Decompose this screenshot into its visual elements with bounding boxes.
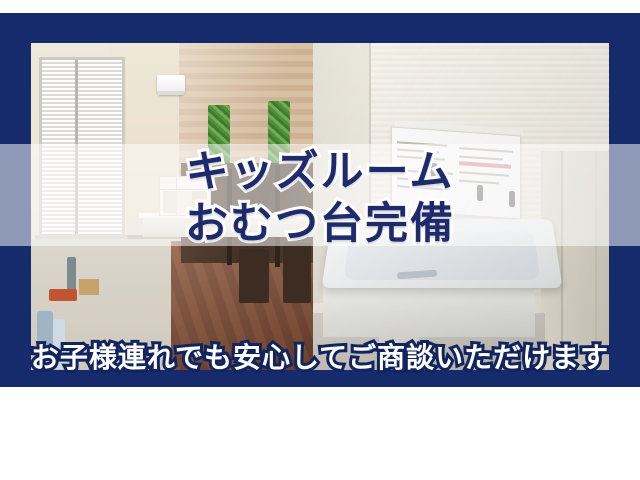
dealer-banner: キッズルーム おむつ台完備 お子様連れでも安心してご商談いただけます [0,0,640,480]
footer-bar: GLOBAL CREST http://www.needs.ne.jp/ [0,387,640,480]
air-conditioner-vent [157,91,185,95]
top-white-strip [0,0,640,13]
sub-caption: お子様連れでも安心してご商談いただけます [0,340,640,376]
room-item [49,289,77,301]
headline: キッズルーム おむつ台完備 [0,146,640,250]
room-item [67,257,76,291]
chair [283,243,311,303]
headline-line-2: おむつ台完備 [0,198,640,250]
chair [239,249,269,303]
headline-line-1: キッズルーム [186,147,455,197]
room-item [79,279,99,295]
